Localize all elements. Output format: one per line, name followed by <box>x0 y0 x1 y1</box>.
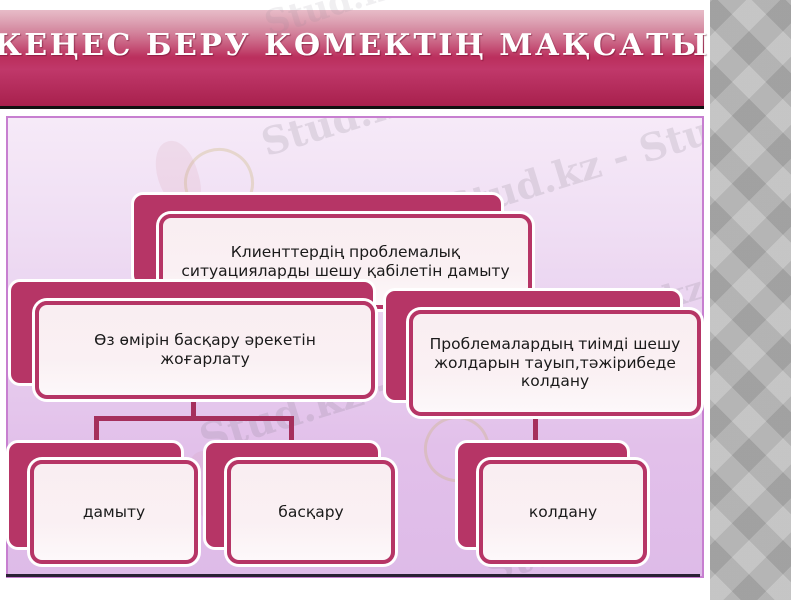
node-body[interactable]: дамыту <box>30 460 198 564</box>
node-body[interactable]: басқару <box>227 460 395 564</box>
node-body[interactable]: Өз өмірін басқару әрекетін жоғарлату <box>35 301 375 399</box>
connector-to-bottom2 <box>289 416 294 442</box>
page-title: КЕҢЕС БЕРУ КӨМЕКТІҢ МАҚСАТЫ <box>0 16 704 74</box>
node-label: дамыту <box>75 503 153 522</box>
connector-to-bottom1 <box>94 416 99 442</box>
decorative-texture-panel <box>707 0 791 600</box>
title-banner: КЕҢЕС БЕРУ КӨМЕКТІҢ МАҚСАТЫ <box>0 10 704 106</box>
diagram-node-bottom1[interactable]: дамыту <box>6 440 184 550</box>
slide: КЕҢЕС БЕРУ КӨМЕКТІҢ МАҚСАТЫ Stud.kz - St… <box>0 0 791 600</box>
frame-bottom-edge <box>6 574 700 577</box>
node-label: Өз өмірін басқару әрекетін жоғарлату <box>39 331 371 369</box>
node-label: колдану <box>521 503 605 522</box>
connector-bottom-bus <box>94 416 294 421</box>
node-body[interactable]: колдану <box>479 460 647 564</box>
diagram-node-right[interactable]: Проблемалардың тиімді шешу жолдарын тауы… <box>383 288 683 403</box>
diagram-node-bottom2[interactable]: басқару <box>203 440 381 550</box>
node-label: басқару <box>270 503 351 522</box>
node-label: Клиенттердің проблемалық ситуацияларды ш… <box>163 243 528 281</box>
diagram-node-bottom3[interactable]: колдану <box>455 440 630 550</box>
diagram-node-left[interactable]: Өз өмірін басқару әрекетін жоғарлату <box>8 279 376 386</box>
diagram-node-top[interactable]: Клиенттердің проблемалық ситуацияларды ш… <box>131 192 504 287</box>
watermark-text: Stud.kz - Stud.kz <box>256 116 616 165</box>
node-body[interactable]: Проблемалардың тиімді шешу жолдарын тауы… <box>409 310 701 416</box>
node-label: Проблемалардың тиімді шешу жолдарын тауы… <box>413 335 697 392</box>
